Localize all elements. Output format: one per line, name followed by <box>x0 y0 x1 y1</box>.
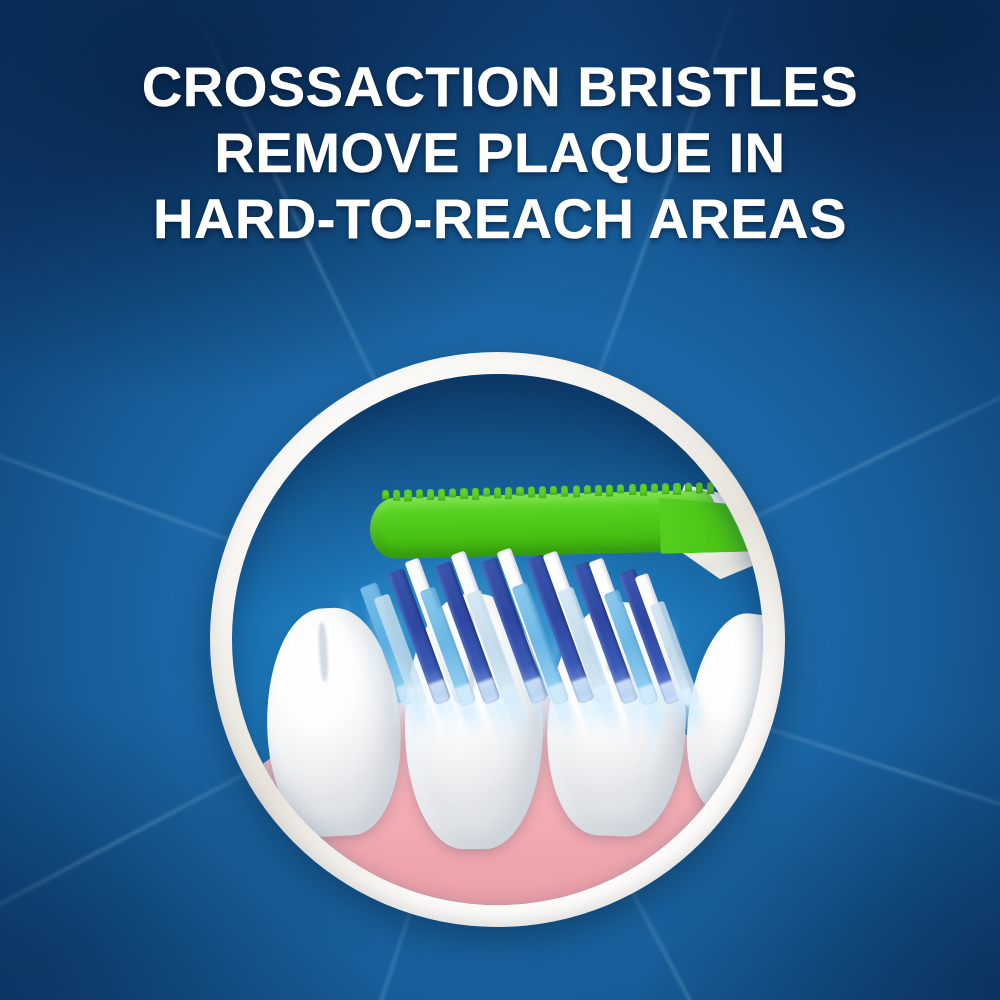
interior-edge-shadow <box>232 374 763 905</box>
illustration-badge <box>210 352 785 927</box>
promo-image: CROSSACTION BRISTLES REMOVE PLAQUE IN HA… <box>0 0 1000 1000</box>
page-title: CROSSACTION BRISTLES REMOVE PLAQUE IN HA… <box>0 54 1000 252</box>
headline-line-3: HARD-TO-REACH AREAS <box>0 186 1000 252</box>
headline-line-2: REMOVE PLAQUE IN <box>0 120 1000 186</box>
badge-interior <box>232 374 763 905</box>
headline-line-1: CROSSACTION BRISTLES <box>0 54 1000 120</box>
